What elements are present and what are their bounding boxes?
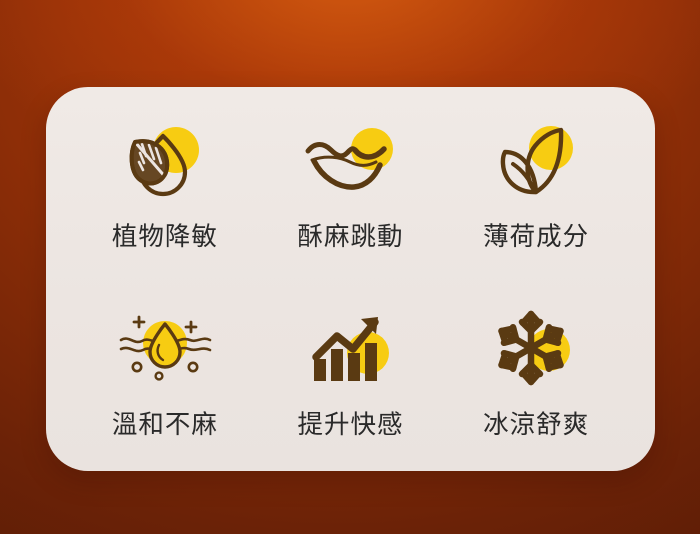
promo-graphic: 植物降敏 酥麻跳動 xyxy=(0,0,700,534)
snowflake-icon xyxy=(484,303,588,395)
feature-label: 酥麻跳動 xyxy=(297,225,403,251)
feature-item-tingling-pulse[interactable]: 酥麻跳動 xyxy=(258,117,444,281)
growth-chart-icon xyxy=(298,303,402,395)
feature-label: 薄荷成分 xyxy=(483,225,589,251)
lips-icon xyxy=(298,117,402,209)
mint-leaves-icon xyxy=(484,117,588,209)
feature-item-mint-ingredient[interactable]: 薄荷成分 xyxy=(443,117,629,281)
feature-item-gentle-nonnumbing[interactable]: 溫和不麻 xyxy=(72,281,258,445)
feature-item-enhance-pleasure[interactable]: 提升快感 xyxy=(258,281,444,445)
feature-item-plant-desensitize[interactable]: 植物降敏 xyxy=(72,117,258,281)
leaf-droplet-icon xyxy=(113,117,217,209)
feature-grid: 植物降敏 酥麻跳動 xyxy=(46,87,655,471)
feature-label: 冰涼舒爽 xyxy=(483,413,589,439)
feature-card: 植物降敏 酥麻跳動 xyxy=(46,87,655,471)
feature-label: 提升快感 xyxy=(297,413,403,439)
feature-item-cool-refreshing[interactable]: 冰涼舒爽 xyxy=(443,281,629,445)
feature-label: 溫和不麻 xyxy=(112,413,218,439)
skin-droplet-icon xyxy=(113,303,217,395)
feature-label: 植物降敏 xyxy=(112,225,218,251)
